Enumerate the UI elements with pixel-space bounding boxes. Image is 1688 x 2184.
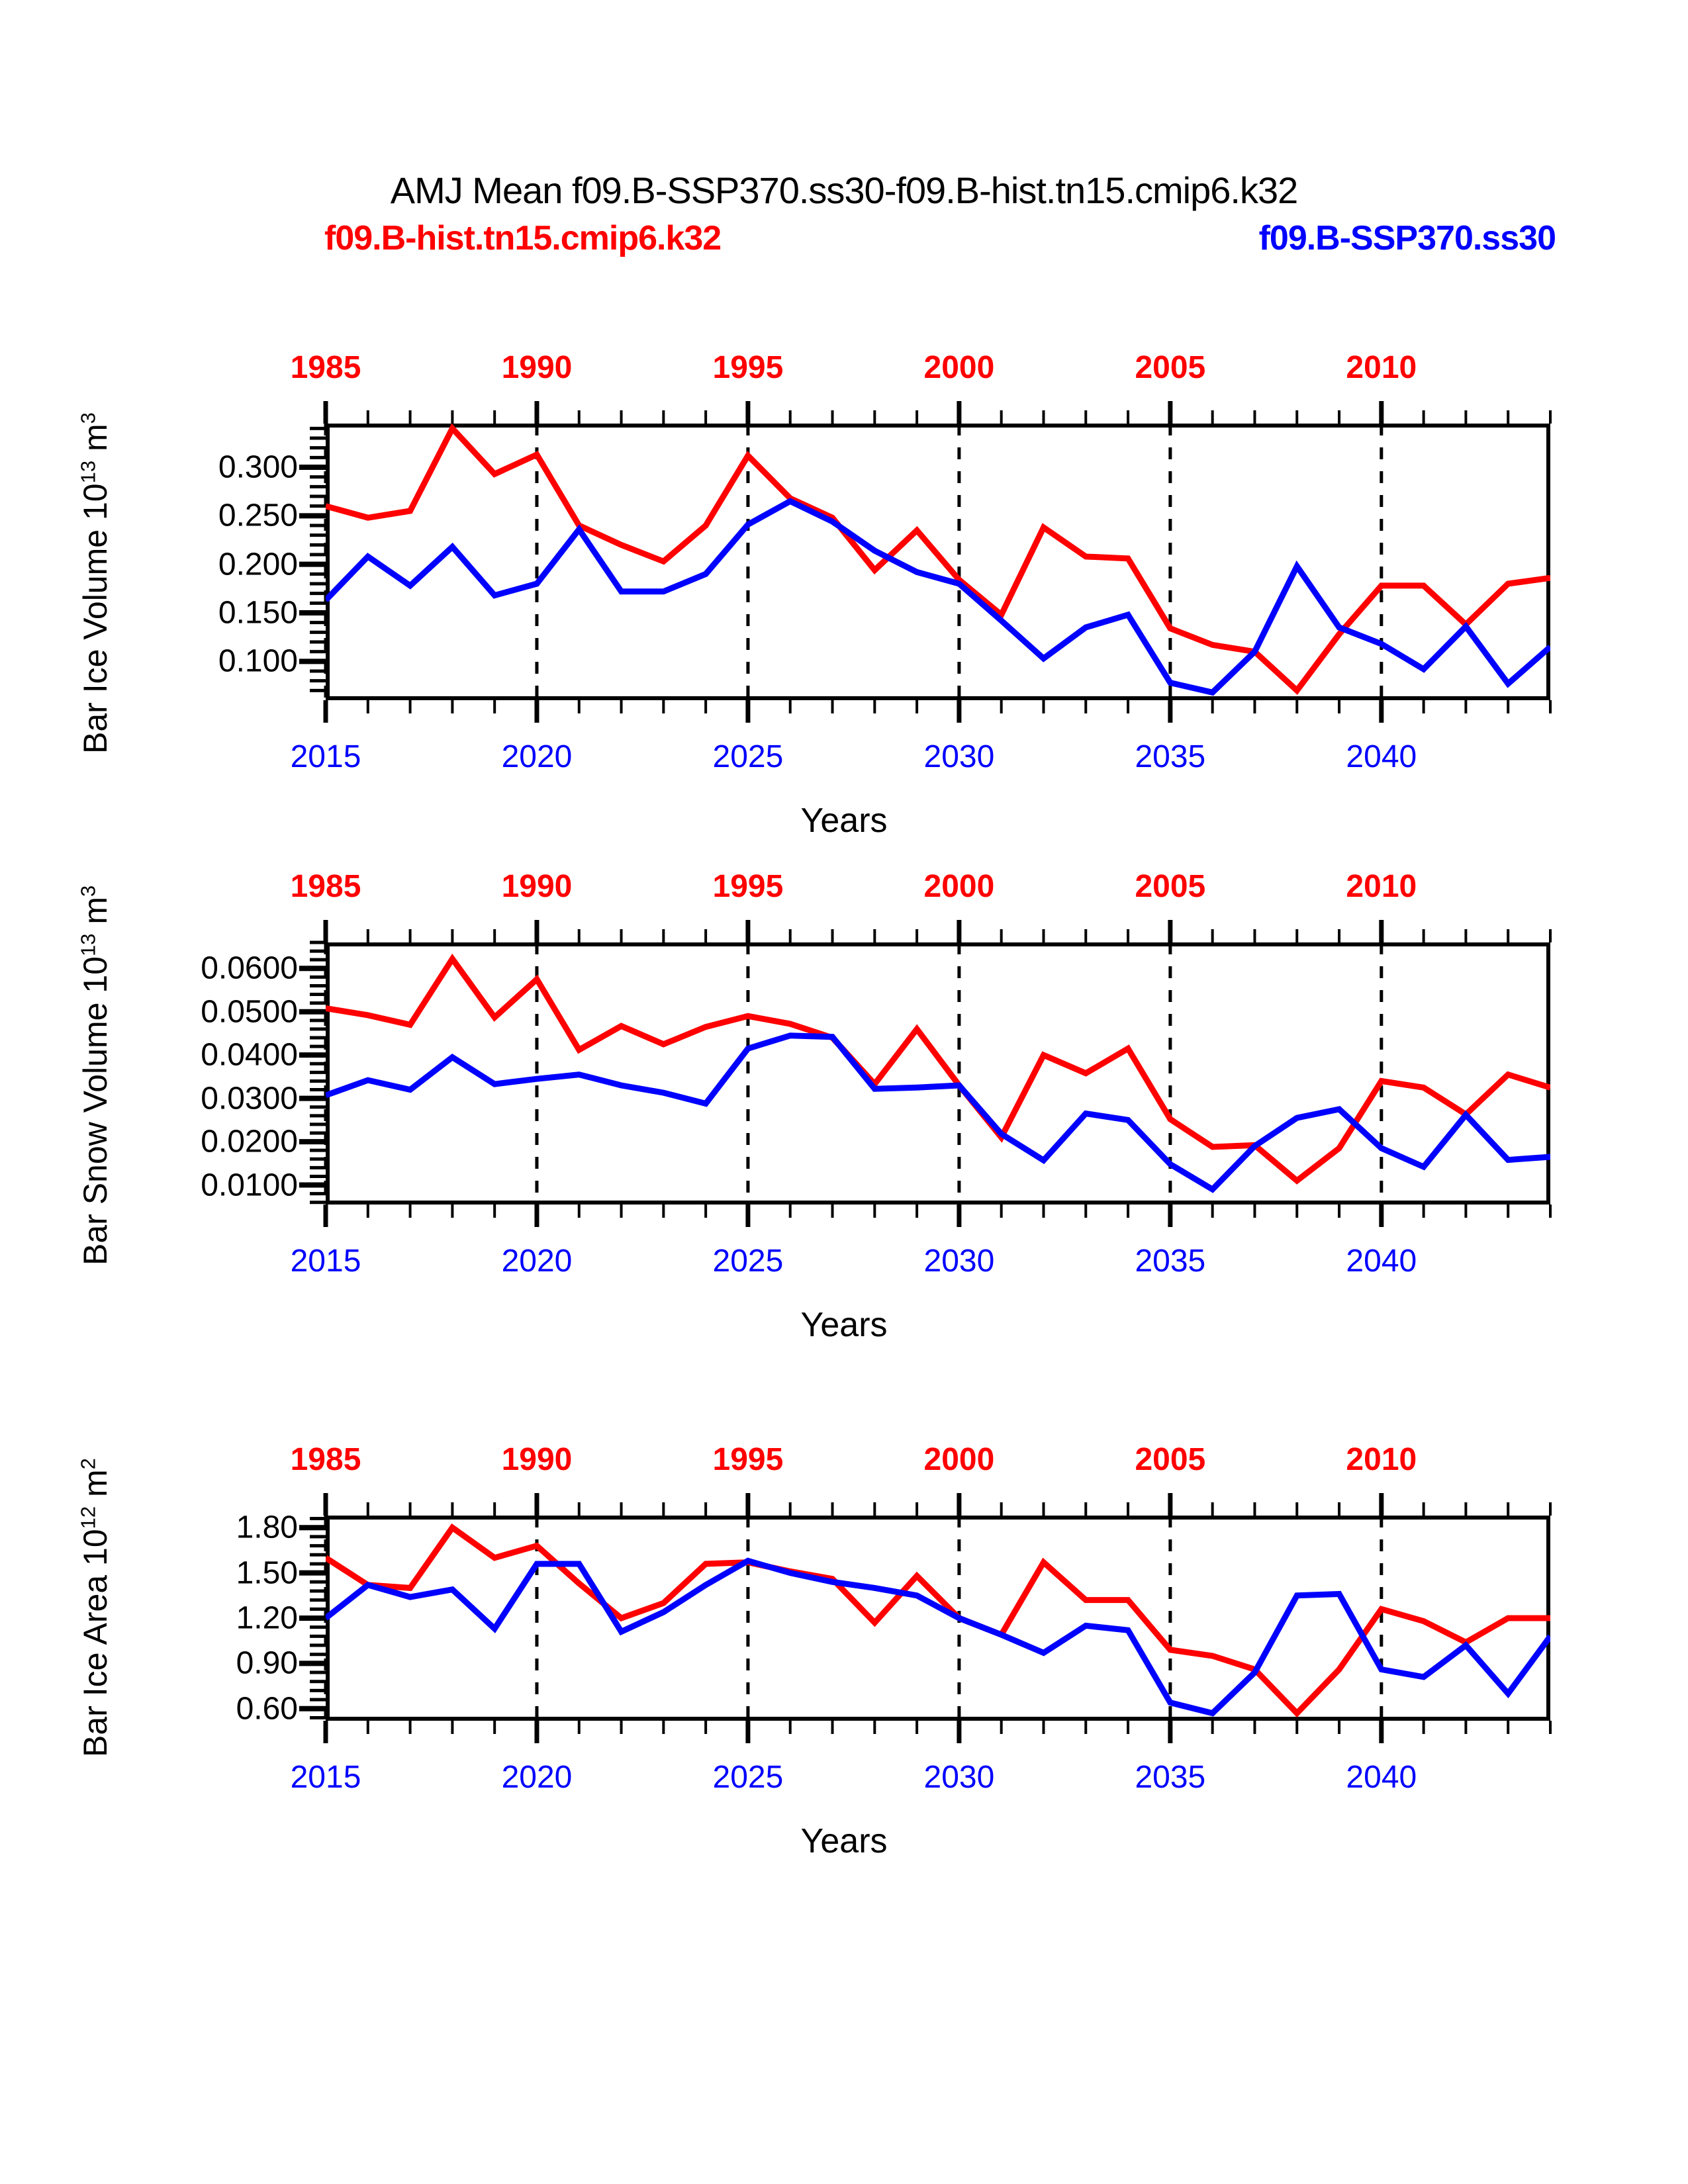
top-axis-tick-label: 1985 (291, 868, 361, 905)
y-axis-exponent: 13 (76, 934, 99, 956)
bottom-axis-tick-label: 2035 (1135, 1759, 1205, 1796)
plot-frame-ice-area (326, 1516, 1550, 1721)
x-axis-title: Years (0, 1305, 1688, 1345)
top-axis-tick-label: 1995 (713, 868, 784, 905)
top-axis-tick-label: 2000 (924, 868, 995, 905)
bottom-axis-tick-label: 2040 (1346, 1759, 1417, 1796)
bottom-axis-tick-label: 2025 (713, 739, 784, 775)
y-axis-unit: m (77, 1469, 114, 1506)
bottom-axis-tick-label: 2040 (1346, 1243, 1417, 1279)
y-axis-title: Bar Ice Area 1012 m2 (76, 1458, 115, 1757)
top-axis-tick-label: 1995 (713, 349, 784, 386)
y-axis-exponent: 12 (76, 1506, 99, 1529)
figure-title: AMJ Mean f09.B-SSP370.ss30-f09.B-hist.tn… (0, 169, 1688, 212)
y-axis-title-text: Bar Ice Area 10 (77, 1529, 114, 1757)
bottom-axis-tick-label: 2030 (924, 1759, 995, 1796)
bottom-axis-tick-label: 2040 (1346, 739, 1417, 775)
y-axis-exponent: 13 (76, 461, 99, 483)
x-axis-title: Years (0, 1821, 1688, 1861)
figure-canvas: AMJ Mean f09.B-SSP370.ss30-f09.B-hist.tn… (0, 0, 1688, 2184)
top-axis-tick-label: 2010 (1346, 349, 1417, 386)
bottom-axis-tick-label: 2020 (502, 1759, 573, 1796)
top-axis-tick-label: 2005 (1135, 349, 1205, 386)
y-axis-title: Bar Snow Volume 1013 m3 (76, 886, 115, 1265)
top-axis-tick-label: 2000 (924, 1441, 995, 1478)
y-axis-unit-exponent: 2 (76, 1458, 99, 1469)
bottom-axis-tick-label: 2025 (713, 1759, 784, 1796)
plot-frame-snow-volume (326, 942, 1550, 1205)
top-axis-tick-label: 2005 (1135, 868, 1205, 905)
bottom-axis-tick-label: 2030 (924, 739, 995, 775)
bottom-axis-tick-label: 2020 (502, 1243, 573, 1279)
top-axis-tick-label: 1990 (502, 1441, 573, 1478)
top-axis-tick-label: 2010 (1346, 868, 1417, 905)
bottom-axis-tick-label: 2015 (291, 1243, 361, 1279)
y-axis-unit: m (77, 897, 114, 934)
y-axis-unit-exponent: 3 (76, 886, 99, 897)
bottom-axis-tick-label: 2025 (713, 1243, 784, 1279)
y-axis-title: Bar Ice Volume 1013 m3 (76, 412, 115, 754)
top-axis-tick-label: 2000 (924, 349, 995, 386)
top-axis-tick-label: 1995 (713, 1441, 784, 1478)
plot-frame-ice-volume (326, 424, 1550, 700)
bottom-axis-tick-label: 2020 (502, 739, 573, 775)
bottom-axis-tick-label: 2035 (1135, 1243, 1205, 1279)
y-axis-unit-exponent: 3 (76, 412, 99, 424)
legend-label-red: f09.B-hist.tn15.cmip6.k32 (324, 218, 721, 258)
y-axis-title-text: Bar Ice Volume 10 (77, 483, 114, 754)
top-axis-tick-label: 1985 (291, 1441, 361, 1478)
bottom-axis-tick-label: 2035 (1135, 739, 1205, 775)
top-axis-tick-label: 2010 (1346, 1441, 1417, 1478)
top-axis-tick-label: 1990 (502, 349, 573, 386)
legend-label-blue: f09.B-SSP370.ss30 (1259, 218, 1556, 258)
bottom-axis-tick-label: 2015 (291, 1759, 361, 1796)
bottom-axis-tick-label: 2030 (924, 1243, 995, 1279)
y-axis-unit: m (77, 424, 114, 461)
x-axis-title: Years (0, 801, 1688, 841)
y-axis-title-text: Bar Snow Volume 10 (77, 956, 114, 1265)
bottom-axis-tick-label: 2015 (291, 739, 361, 775)
top-axis-tick-label: 1985 (291, 349, 361, 386)
top-axis-tick-label: 2005 (1135, 1441, 1205, 1478)
top-axis-tick-label: 1990 (502, 868, 573, 905)
